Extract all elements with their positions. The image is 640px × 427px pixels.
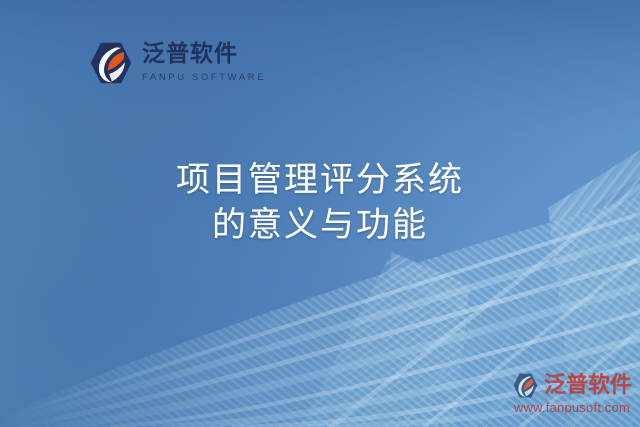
fanpu-hexagon-logo-icon bbox=[88, 40, 134, 86]
watermark-brand-name: 泛普软件 bbox=[544, 375, 632, 397]
brand-logo: 泛普软件 FANPU SOFTWARE bbox=[88, 40, 266, 86]
brand-name-cn: 泛普软件 bbox=[142, 43, 266, 66]
brand-logo-text: 泛普软件 FANPU SOFTWARE bbox=[142, 43, 266, 83]
watermark-brand-row: 泛普软件 bbox=[512, 372, 632, 399]
watermark: 泛普软件 www.fanpusoft.com bbox=[512, 372, 632, 415]
fanpu-hexagon-logo-icon bbox=[512, 372, 539, 399]
page-title-line-2: 的意义与功能 bbox=[0, 203, 640, 248]
watermark-url: www.fanpusoft.com bbox=[514, 400, 630, 415]
page-title: 项目管理评分系统 的意义与功能 bbox=[0, 158, 640, 248]
promo-banner: 泛普软件 FANPU SOFTWARE 项目管理评分系统 的意义与功能 泛普软件… bbox=[0, 0, 640, 427]
page-title-line-1: 项目管理评分系统 bbox=[0, 158, 640, 203]
brand-name-en: FANPU SOFTWARE bbox=[142, 73, 266, 83]
tower-middle bbox=[300, 252, 470, 427]
